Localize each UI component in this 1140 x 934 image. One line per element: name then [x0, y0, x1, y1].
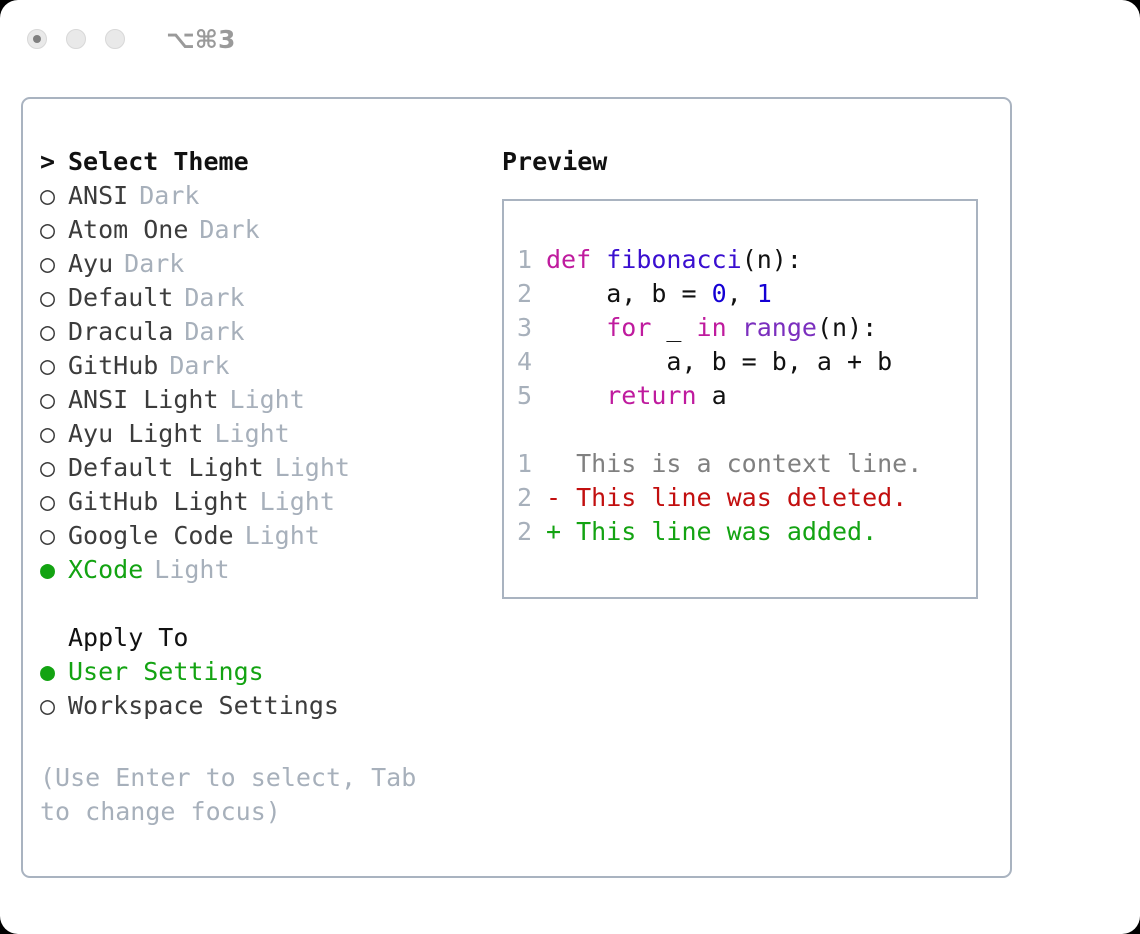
theme-option-xcode[interactable]: ●XCodeLight — [40, 553, 480, 587]
preview-code-line: 3 for _ in range(n): — [504, 313, 976, 347]
prompt-caret-icon: > — [40, 145, 68, 179]
apply-to-marker-placeholder: ○ — [40, 621, 68, 655]
code-token-pl: a, b = — [546, 279, 712, 308]
theme-option-container: ○ANSIDark○Atom OneDark○AyuDark○DefaultDa… — [40, 179, 480, 587]
traffic-light-button-2[interactable] — [66, 29, 86, 49]
code-token-bi: range — [742, 313, 817, 342]
apply-to-option-container: ●User Settings○Workspace Settings — [40, 655, 480, 723]
code-token-pl — [591, 245, 606, 274]
traffic-light-button-3[interactable] — [105, 29, 125, 49]
code-line-content: def fibonacci(n): — [546, 245, 802, 274]
radio-selected-icon: ● — [40, 553, 68, 587]
code-token-pl: (n): — [817, 313, 877, 342]
preview-code-line: 4 a, b = b, a + b — [504, 347, 976, 381]
theme-option-github-light[interactable]: ○GitHub LightLight — [40, 485, 480, 519]
preview-box: 1def fibonacci(n):2 a, b = 0, 13 for _ i… — [502, 199, 978, 599]
theme-selector-list: > Select Theme ○ANSIDark○Atom OneDark○Ay… — [40, 145, 480, 723]
code-line-content: a, b = 0, 1 — [546, 279, 772, 308]
list-spacer — [40, 587, 480, 621]
theme-option-variant-badge: Light — [275, 453, 350, 482]
preview-title: Preview — [502, 145, 992, 179]
select-theme-heading-label: Select Theme — [68, 147, 249, 176]
traffic-light-button-1[interactable] — [27, 29, 47, 49]
main-panel: > Select Theme ○ANSIDark○Atom OneDark○Ay… — [21, 97, 1012, 878]
code-token-num: 0 — [712, 279, 727, 308]
theme-option-label: GitHub — [68, 351, 158, 380]
code-token-pl: _ — [651, 313, 696, 342]
theme-option-label: Atom One — [68, 215, 188, 244]
line-number: 1 — [504, 245, 546, 274]
theme-option-label: Dracula — [68, 317, 173, 346]
theme-option-label: Ayu Light — [68, 419, 203, 448]
code-token-pl: a, b = b, a + b — [546, 347, 892, 376]
preview-code-line: 2 a, b = 0, 1 — [504, 279, 976, 313]
theme-option-variant-badge: Light — [245, 521, 320, 550]
preview-column: Preview 1def fibonacci(n):2 a, b = 0, 13… — [502, 145, 992, 599]
theme-option-variant-badge: Dark — [169, 351, 229, 380]
code-token-fn: fibonacci — [606, 245, 741, 274]
theme-option-ansi[interactable]: ○ANSIDark — [40, 179, 480, 213]
line-number: 2 — [504, 517, 546, 546]
code-token-kw: def — [546, 245, 591, 274]
theme-option-label: GitHub Light — [68, 487, 249, 516]
preview-code-line: 1def fibonacci(n): — [504, 245, 976, 279]
apply-to-option-user-settings[interactable]: ●User Settings — [40, 655, 480, 689]
code-line-content: a, b = b, a + b — [546, 347, 892, 376]
theme-option-variant-badge: Dark — [124, 249, 184, 278]
line-number: 2 — [504, 279, 546, 308]
apply-to-heading-label: Apply To — [68, 623, 188, 652]
theme-option-variant-badge: Dark — [184, 317, 244, 346]
radio-unselected-icon: ○ — [40, 451, 68, 485]
preview-diff-line: 1 This is a context line. — [504, 449, 976, 483]
theme-option-variant-badge: Light — [230, 385, 305, 414]
theme-option-variant-badge: Light — [154, 555, 229, 584]
radio-unselected-icon: ○ — [40, 315, 68, 349]
radio-unselected-icon: ○ — [40, 383, 68, 417]
code-token-pl — [546, 381, 606, 410]
radio-unselected-icon: ○ — [40, 179, 68, 213]
theme-option-variant-badge: Dark — [199, 215, 259, 244]
code-line-content: return a — [546, 381, 727, 410]
theme-option-label: ANSI Light — [68, 385, 219, 414]
preview-code-block: 1def fibonacci(n):2 a, b = 0, 13 for _ i… — [504, 245, 976, 415]
radio-unselected-icon: ○ — [40, 519, 68, 553]
radio-unselected-icon: ○ — [40, 485, 68, 519]
apply-to-option-label: User Settings — [68, 657, 264, 686]
radio-unselected-icon: ○ — [40, 213, 68, 247]
radio-unselected-icon: ○ — [40, 281, 68, 315]
diff-line-content-ctx: This is a context line. — [546, 449, 922, 478]
radio-unselected-icon: ○ — [40, 247, 68, 281]
theme-option-ayu[interactable]: ○AyuDark — [40, 247, 480, 281]
code-token-num: 1 — [757, 279, 772, 308]
radio-unselected-icon: ○ — [40, 349, 68, 383]
radio-selected-icon: ● — [40, 655, 68, 689]
title-bar: ⌥⌘3 — [0, 0, 1140, 78]
theme-option-variant-badge: Light — [214, 419, 289, 448]
code-token-pl: , — [727, 279, 757, 308]
traffic-light-active-indicator — [33, 35, 41, 43]
apply-to-option-workspace-settings[interactable]: ○Workspace Settings — [40, 689, 480, 723]
code-line-content: for _ in range(n): — [546, 313, 877, 342]
code-token-kw: in — [697, 313, 727, 342]
theme-option-label: Google Code — [68, 521, 234, 550]
theme-option-google-code[interactable]: ○Google CodeLight — [40, 519, 480, 553]
code-token-pl — [546, 313, 606, 342]
keyboard-hint-text: (Use Enter to select, Tab to change focu… — [40, 761, 460, 829]
theme-option-dracula[interactable]: ○DraculaDark — [40, 315, 480, 349]
theme-option-ansi-light[interactable]: ○ANSI LightLight — [40, 383, 480, 417]
theme-option-github[interactable]: ○GitHubDark — [40, 349, 480, 383]
theme-option-variant-badge: Light — [260, 487, 335, 516]
preview-diff-block: 1 This is a context line.2- This line wa… — [504, 449, 976, 551]
theme-option-default-light[interactable]: ○Default LightLight — [40, 451, 480, 485]
code-token-pl: a — [697, 381, 727, 410]
diff-line-content-del: - This line was deleted. — [546, 483, 907, 512]
theme-option-ayu-light[interactable]: ○Ayu LightLight — [40, 417, 480, 451]
theme-option-variant-badge: Dark — [139, 181, 199, 210]
apply-to-heading: ○ Apply To — [40, 621, 480, 655]
preview-diff-line: 2+ This line was added. — [504, 517, 976, 551]
code-token-pl: (n): — [742, 245, 802, 274]
theme-option-label: Default Light — [68, 453, 264, 482]
theme-option-label: Default — [68, 283, 173, 312]
line-number: 2 — [504, 483, 546, 512]
theme-option-variant-badge: Dark — [184, 283, 244, 312]
terminal-window: ⌥⌘3 > Select Theme ○ANSIDark○Atom OneDar… — [0, 0, 1140, 934]
radio-unselected-icon: ○ — [40, 417, 68, 451]
apply-to-option-label: Workspace Settings — [68, 691, 339, 720]
theme-option-label: Ayu — [68, 249, 113, 278]
select-theme-heading: > Select Theme — [40, 145, 480, 179]
preview-diff-line: 2- This line was deleted. — [504, 483, 976, 517]
line-number: 1 — [504, 449, 546, 478]
line-number: 4 — [504, 347, 546, 376]
diff-line-content-add: + This line was added. — [546, 517, 877, 546]
line-number: 3 — [504, 313, 546, 342]
code-token-kw: return — [606, 381, 696, 410]
theme-option-default[interactable]: ○DefaultDark — [40, 281, 480, 315]
keyboard-shortcut-label: ⌥⌘3 — [166, 25, 235, 54]
theme-option-label: XCode — [68, 555, 143, 584]
preview-blank-line — [504, 415, 976, 449]
theme-option-atom-one[interactable]: ○Atom OneDark — [40, 213, 480, 247]
line-number: 5 — [504, 381, 546, 410]
radio-unselected-icon: ○ — [40, 689, 68, 723]
code-token-pl — [727, 313, 742, 342]
theme-option-label: ANSI — [68, 181, 128, 210]
preview-code-line: 5 return a — [504, 381, 976, 415]
code-token-kw: for — [606, 313, 651, 342]
